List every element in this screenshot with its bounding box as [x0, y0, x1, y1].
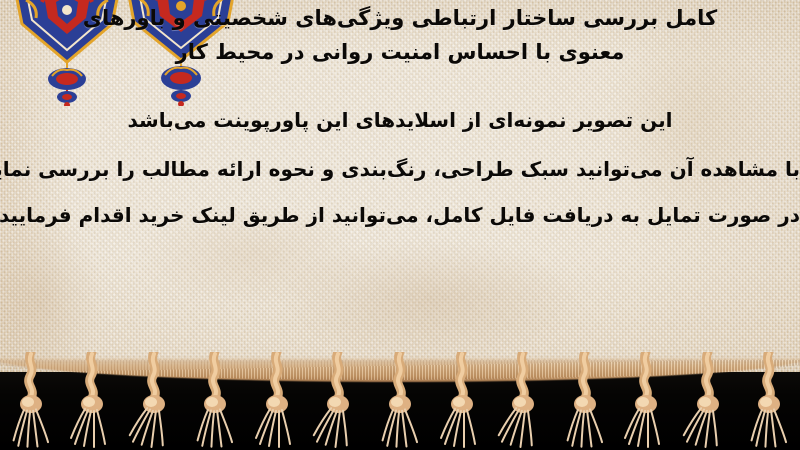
fringe-tassel	[123, 352, 185, 450]
fringe-tassel	[492, 352, 554, 450]
fringe-tassel	[615, 352, 677, 450]
fringe-tassel	[0, 352, 62, 450]
slide-title-line-2: معنوی با احساس امنیت روانی در محیط کار	[0, 40, 800, 64]
fringe-tassel	[554, 352, 616, 450]
fringe-tassel	[431, 352, 493, 450]
fringe-tassel	[246, 352, 308, 450]
fringe-tassel	[369, 352, 431, 450]
body-text-line-3: در صورت تمایل به دریافت فایل کامل، می‌تو…	[0, 203, 800, 227]
slide-canvas: کامل بررسی ساختار ارتباطی ویژگی‌های شخصی…	[0, 0, 800, 450]
carpet-fringe	[0, 352, 800, 450]
fringe-tassel	[307, 352, 369, 450]
fringe-tassel	[738, 352, 800, 450]
body-text-line-1: این تصویر نمونه‌ای از اسلایدهای این پاور…	[0, 108, 800, 132]
body-text-line-2: با مشاهده آن می‌توانید سبک طراحی، رنگ‌بن…	[0, 157, 800, 181]
fringe-tassel	[677, 352, 739, 450]
fringe-tassel	[184, 352, 246, 450]
fringe-tassel	[61, 352, 123, 450]
slide-title-line-1: کامل بررسی ساختار ارتباطی ویژگی‌های شخصی…	[0, 6, 800, 30]
